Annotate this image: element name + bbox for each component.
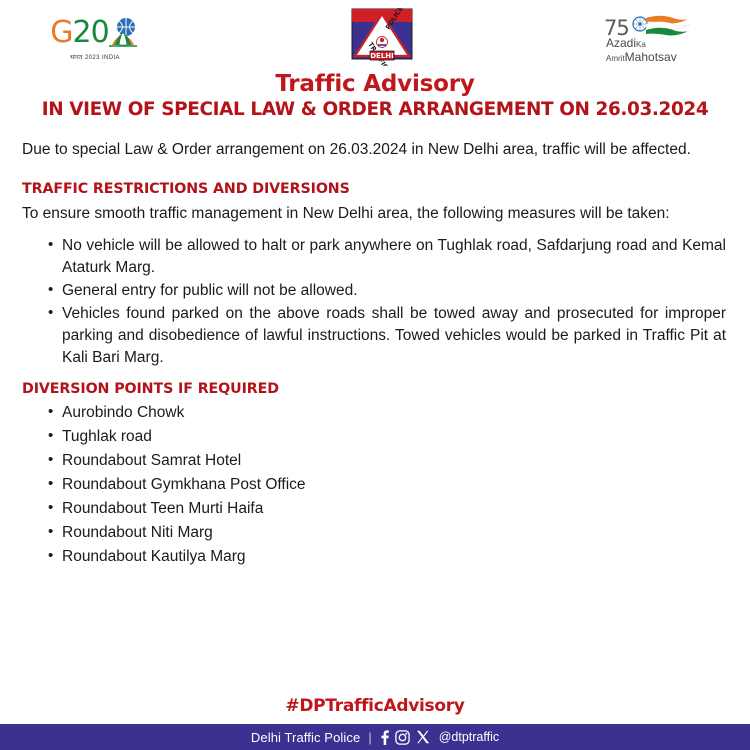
- footer-org-name: Delhi Traffic Police: [251, 730, 360, 745]
- instagram-icon[interactable]: [395, 730, 410, 745]
- g20-number-20: 20: [73, 18, 109, 48]
- logo-row: G 20 भारत 2023 INDIA: [0, 0, 750, 70]
- azadi-word-mahotsav: Mahotsav: [625, 50, 677, 64]
- azadi-word-amrit: Amrit: [606, 54, 625, 63]
- g20-lotus-globe-icon: [106, 15, 140, 51]
- list-item: General entry for public will not be all…: [48, 280, 726, 302]
- diversion-points-list: Aurobindo Chowk Tughlak road Roundabout …: [22, 401, 726, 569]
- list-item: Tughlak road: [48, 425, 726, 449]
- list-item: Roundabout Niti Marg: [48, 521, 726, 545]
- hashtag-text: #DPTrafficAdvisory: [0, 696, 750, 724]
- diversion-heading: DIVERSION POINTS IF REQUIRED: [22, 381, 712, 397]
- advisory-poster: G 20 भारत 2023 INDIA: [0, 0, 750, 750]
- measures-list: No vehicle will be allowed to halt or pa…: [22, 235, 726, 369]
- g20-logo: G 20 भारत 2023 INDIA: [30, 14, 160, 61]
- list-item: No vehicle will be allowed to halt or pa…: [48, 235, 726, 279]
- social-icons: [380, 730, 430, 745]
- azadi-emblem-row: 75: [604, 9, 692, 39]
- list-item: Roundabout Teen Murti Haifa: [48, 497, 726, 521]
- list-item: Vehicles found parked on the above roads…: [48, 303, 726, 369]
- g20-wordmark: G 20: [50, 14, 139, 52]
- azadi-word-ka: Ka: [636, 40, 646, 49]
- g20-subtitle: भारत 2023 INDIA: [70, 53, 120, 61]
- footer-divider: |: [368, 730, 371, 745]
- azadi-ka-amrit-mahotsav-logo: 75 AzadiKa: [604, 9, 724, 64]
- list-item: Aurobindo Chowk: [48, 401, 726, 425]
- facebook-icon[interactable]: [380, 730, 389, 745]
- g20-letter-g: G: [50, 18, 72, 48]
- title-block: Traffic Advisory IN VIEW OF SPECIAL LAW …: [0, 72, 750, 121]
- list-item: Roundabout Samrat Hotel: [48, 449, 726, 473]
- azadi-word-azadi: Azadi: [606, 36, 636, 50]
- list-item: Roundabout Kautilya Marg: [48, 545, 726, 569]
- page-subtitle: IN VIEW OF SPECIAL LAW & ORDER ARRANGEME…: [11, 99, 739, 121]
- social-handle[interactable]: @dtptraffic: [439, 730, 499, 744]
- list-item: Roundabout Gymkhana Post Office: [48, 473, 726, 497]
- azadi-wordmark: AzadiKa AmritMahotsav: [606, 37, 677, 64]
- intro-paragraph: Due to special Law & Order arrangement o…: [22, 139, 726, 161]
- page-title: Traffic Advisory: [0, 72, 750, 96]
- tricolour-flag-icon: [630, 9, 692, 39]
- restrictions-heading: TRAFFIC RESTRICTIONS AND DIVERSIONS: [22, 181, 712, 197]
- delhi-traffic-police-emblem: TRAFFIC POLICE DELHI: [351, 8, 413, 66]
- svg-text:DELHI: DELHI: [370, 52, 394, 60]
- footer-bar: Delhi Traffic Police | @dtptraf: [0, 724, 750, 750]
- advisory-content: Due to special Law & Order arrangement o…: [0, 121, 750, 696]
- measures-lead-paragraph: To ensure smooth traffic management in N…: [22, 203, 726, 225]
- x-twitter-icon[interactable]: [416, 730, 430, 744]
